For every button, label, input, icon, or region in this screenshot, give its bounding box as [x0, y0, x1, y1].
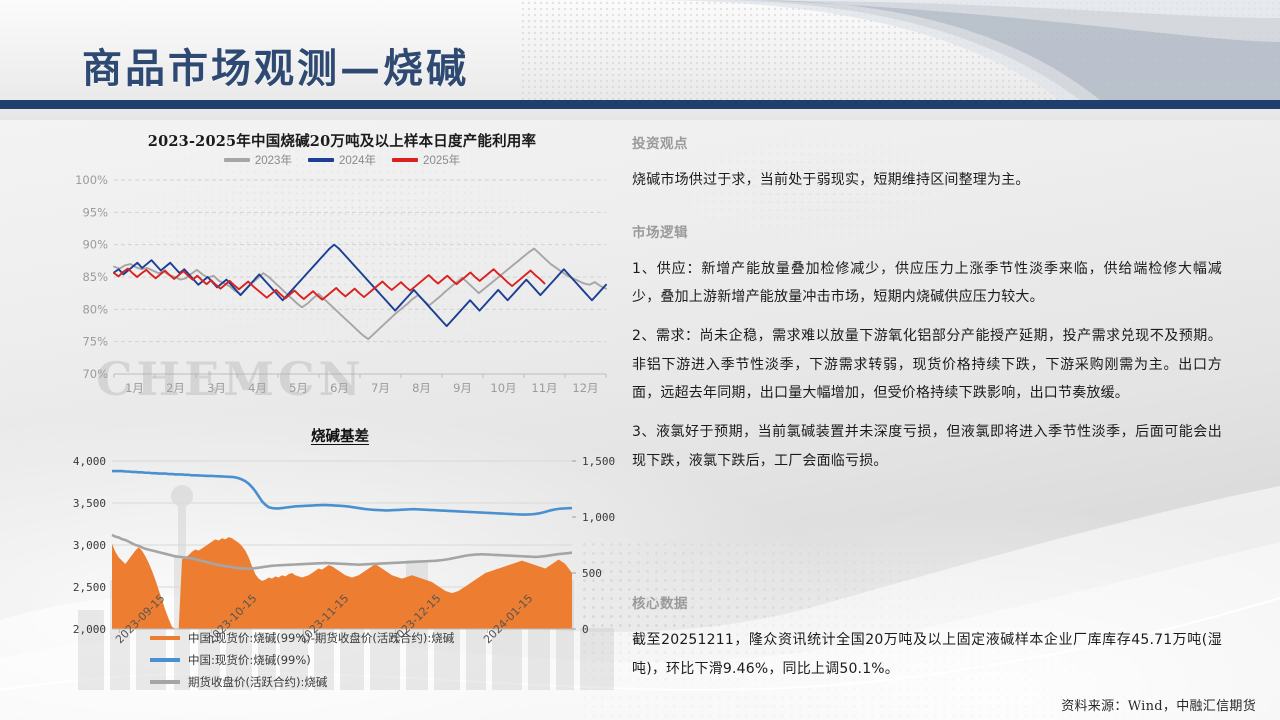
chart2-ytick-label-right: 0 [582, 623, 589, 636]
chart2-legend-item-2[interactable]: 期货收盘价(活跃合约):烧碱 [150, 674, 454, 690]
chart1-plot-area: 100%95%90%85%80%75%70%1月2月3月4月5月6月7月8月9月… [72, 172, 612, 410]
chart1-legend: 2023年 2024年 2025年 [72, 152, 612, 168]
chart1-legend-item-2[interactable]: 2025年 [392, 152, 460, 168]
page-title: 商品市场观测—烧碱 [82, 36, 469, 94]
chart2-ytick-label-left: 4,000 [73, 455, 106, 468]
chart2-ytick-label-left: 3,500 [73, 497, 106, 510]
chart1-xtick-label: 12月 [572, 381, 598, 395]
chart1-ytick-label: 90% [82, 238, 108, 252]
legend-swatch-2023 [224, 158, 250, 162]
chart1-xtick-label: 4月 [248, 381, 267, 395]
chart1-xtick-label: 1月 [125, 381, 144, 395]
chart1-ytick-label: 95% [82, 205, 108, 219]
chart2-ytick-label-right: 500 [582, 567, 602, 580]
chart1-xtick-label: 3月 [207, 381, 226, 395]
chart2-ytick-label-right: 1,500 [582, 455, 615, 468]
chart2-ytick-label-left: 3,000 [73, 539, 106, 552]
core-data-heading: 核心数据 [632, 592, 1222, 612]
capacity-utilization-chart: 2023-2025年中国烧碱20万吨及以上样本日度产能利用率 2023年 202… [72, 130, 612, 410]
legend-swatch-2024 [308, 158, 334, 162]
investment-view-heading: 投资观点 [632, 132, 1222, 152]
chart1-legend-label-2: 2025年 [423, 152, 460, 168]
chart2-series-line [112, 471, 572, 515]
chart1-xtick-label: 5月 [289, 381, 308, 395]
chart1-ytick-label: 100% [75, 173, 108, 187]
chart1-xtick-label: 8月 [412, 381, 431, 395]
chart1-legend-item-1[interactable]: 2024年 [308, 152, 376, 168]
legend-swatch-spot [150, 658, 180, 662]
chart1-xtick-label: 11月 [531, 381, 557, 395]
chart1-ytick-label: 70% [82, 367, 108, 381]
chart2-ytick-label-right: 1,000 [582, 511, 615, 524]
right-text-panel: 投资观点 烧碱市场供过于求，当前处于弱现实，短期维持区间整理为主。 市场逻辑 1… [632, 132, 1222, 486]
investment-view-paragraph-0: 烧碱市场供过于求，当前处于弱现实，短期维持区间整理为主。 [632, 166, 1222, 195]
chart1-xtick-label: 6月 [330, 381, 349, 395]
chart1-xtick-label: 9月 [453, 381, 472, 395]
chart2-series-line [112, 535, 572, 569]
chart1-legend-label-0: 2023年 [255, 152, 292, 168]
source-footnote: 资料来源：Wind，中融汇信期货 [1061, 695, 1256, 714]
chart1-legend-label-1: 2024年 [339, 152, 376, 168]
market-logic-paragraph-1: 2、需求：尚未企稳，需求难以放量下游氧化铝部分产能授产延期，投产需求兑现不及预期… [632, 322, 1222, 408]
chart2-title: 烧碱基差 [60, 425, 620, 446]
chart1-title: 2023-2025年中国烧碱20万吨及以上样本日度产能利用率 [72, 130, 612, 151]
chart2-ytick-label-left: 2,500 [73, 581, 106, 594]
legend-swatch-futures [150, 680, 180, 684]
slide-page: 商品市场观测—烧碱 2023-2025年中国烧碱20万吨及以上样本日度产能利用率… [0, 0, 1280, 720]
chart2-legend-item-1[interactable]: 中国:现货价:烧碱(99%) [150, 652, 454, 668]
chart2-ytick-label-left: 2,000 [73, 623, 106, 636]
header-accent-bar [0, 100, 1280, 109]
chart1-ytick-label: 75% [82, 335, 108, 349]
core-data-paragraph-0: 截至20251211，隆众资讯统计全国20万吨及以上固定液碱样本企业厂库库存45… [632, 626, 1222, 683]
chart1-xtick-label: 10月 [490, 381, 516, 395]
market-logic-paragraph-2: 3、液氯好于预期，当前氯碱装置并未深度亏损，但液氯即将进入季节性淡季，后面可能会… [632, 418, 1222, 475]
chart1-ytick-label: 85% [82, 270, 108, 284]
chart2-legend-label-1: 中国:现货价:烧碱(99%) [188, 652, 311, 668]
chart1-series-line [114, 245, 606, 326]
chart2-legend-label-2: 期货收盘价(活跃合约):烧碱 [188, 674, 327, 690]
core-data-section: 核心数据 截至20251211，隆众资讯统计全国20万吨及以上固定液碱样本企业厂… [632, 592, 1222, 693]
chart1-ytick-label: 80% [82, 302, 108, 316]
chart1-xtick-label: 2月 [166, 381, 185, 395]
legend-swatch-basis [150, 636, 180, 640]
section-gap-1 [632, 205, 1222, 221]
chart1-legend-item-0[interactable]: 2023年 [224, 152, 292, 168]
basis-chart: 烧碱基差 4,0003,5003,0002,5002,0001,5001,000… [60, 425, 620, 705]
chart1-xtick-label: 7月 [371, 381, 390, 395]
market-logic-paragraph-0: 1、供应：新增产能放量叠加检修减少，供应压力上涨季节性淡季来临，供给端检修大幅减… [632, 255, 1222, 312]
legend-swatch-2025 [392, 158, 418, 162]
market-logic-heading: 市场逻辑 [632, 221, 1222, 241]
